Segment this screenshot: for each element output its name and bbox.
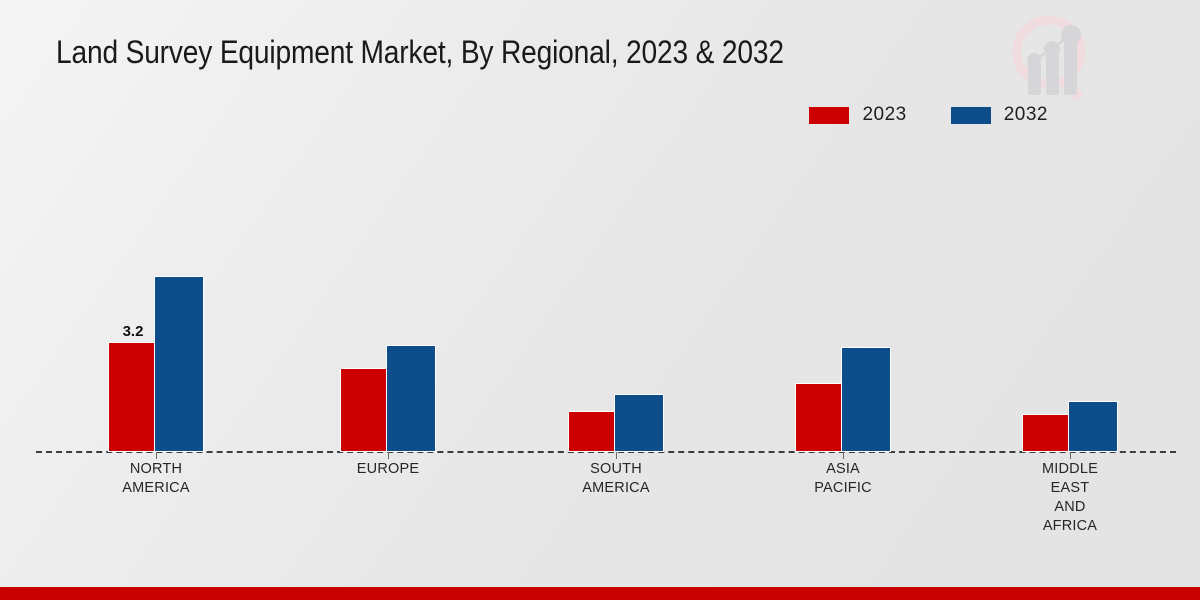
x-axis-label-line: AND — [970, 498, 1170, 517]
bar-2023-north-america[interactable]: 3.2 — [108, 342, 158, 452]
bar-2032-asia-pacific[interactable] — [841, 347, 891, 452]
x-axis-label-line: EUROPE — [288, 460, 488, 479]
bar-2023-middle-east-and-africa[interactable] — [1022, 414, 1072, 452]
x-axis-label-line: ASIA — [743, 460, 943, 479]
bar-2023-europe[interactable] — [340, 368, 390, 452]
x-axis-label-line: EAST — [970, 479, 1170, 498]
bar-2032-north-america[interactable] — [154, 276, 204, 452]
bar-2032-middle-east-and-africa[interactable] — [1068, 401, 1118, 452]
x-axis-tick — [1070, 452, 1071, 459]
x-axis-label-line: NORTH — [56, 460, 256, 479]
x-axis-label-line: AMERICA — [56, 479, 256, 498]
x-axis-tick — [843, 452, 844, 459]
plot-area: 3.2 NORTHAMERICAEUROPESOUTHAMERICAASIAPA… — [0, 0, 1200, 560]
x-axis-label-line: AFRICA — [970, 517, 1170, 536]
bar-2032-europe[interactable] — [386, 345, 436, 452]
bar-2032-south-america[interactable] — [614, 394, 664, 452]
bar-2023-asia-pacific[interactable] — [795, 383, 845, 452]
bar-2023-south-america[interactable] — [568, 411, 618, 452]
x-axis-label-asia-pacific: ASIAPACIFIC — [743, 460, 943, 498]
x-axis-label-line: MIDDLE — [970, 460, 1170, 479]
bar-value-label: 3.2 — [123, 323, 144, 340]
x-axis-tick — [156, 452, 157, 459]
x-axis-label-north-america: NORTHAMERICA — [56, 460, 256, 498]
x-axis-tick — [616, 452, 617, 459]
x-axis-label-middle-east-and-africa: MIDDLEEASTANDAFRICA — [970, 460, 1170, 536]
x-axis-label-line: AMERICA — [516, 479, 716, 498]
x-axis-tick — [388, 452, 389, 459]
x-axis-label-line: SOUTH — [516, 460, 716, 479]
x-axis-label-europe: EUROPE — [288, 460, 488, 479]
x-axis-label-south-america: SOUTHAMERICA — [516, 460, 716, 498]
x-axis-label-line: PACIFIC — [743, 479, 943, 498]
bottom-accent-band — [0, 587, 1200, 600]
